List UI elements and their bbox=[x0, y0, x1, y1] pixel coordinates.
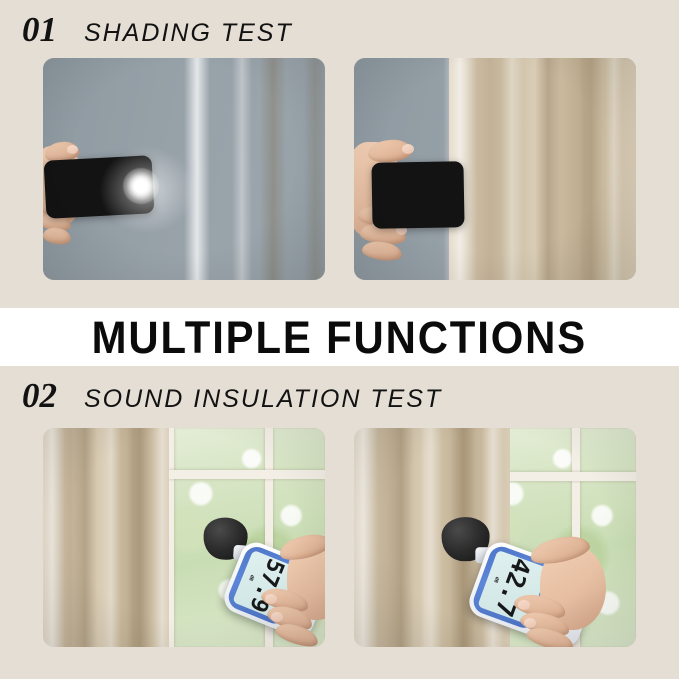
section-number-02: 02 bbox=[22, 378, 57, 413]
section-heading-01: 01 SHADING TEST bbox=[22, 12, 293, 47]
window-mullion-horizontal bbox=[504, 472, 636, 481]
panel-sound-behind-curtain: 42.7 dB bbox=[354, 428, 636, 647]
curtain-fabric bbox=[449, 58, 636, 280]
meter-reading-unit: dB bbox=[492, 576, 499, 583]
meter-reading-unit: dB bbox=[247, 574, 254, 581]
banner-text: MULTIPLE FUNCTIONS bbox=[92, 315, 587, 360]
section-title-02: SOUND INSULATION TEST bbox=[84, 387, 442, 412]
section-heading-02: 02 SOUND INSULATION TEST bbox=[22, 378, 442, 413]
panel-shading-light-on bbox=[43, 58, 325, 280]
curtain-fabric bbox=[188, 58, 325, 280]
panel-sound-open-window: 57.9 dB bbox=[43, 428, 325, 647]
curtain-fabric bbox=[43, 428, 169, 647]
section-number-01: 01 bbox=[22, 12, 57, 47]
banner-multiple-functions: MULTIPLE FUNCTIONS bbox=[0, 308, 679, 366]
product-infographic: 01 SHADING TEST bbox=[0, 0, 679, 679]
window-mullion-horizontal bbox=[161, 470, 325, 479]
smartphone bbox=[371, 161, 464, 229]
panel-shading-light-blocked bbox=[354, 58, 636, 280]
flashlight-beam-icon bbox=[123, 168, 159, 204]
section-title-01: SHADING TEST bbox=[84, 21, 293, 46]
